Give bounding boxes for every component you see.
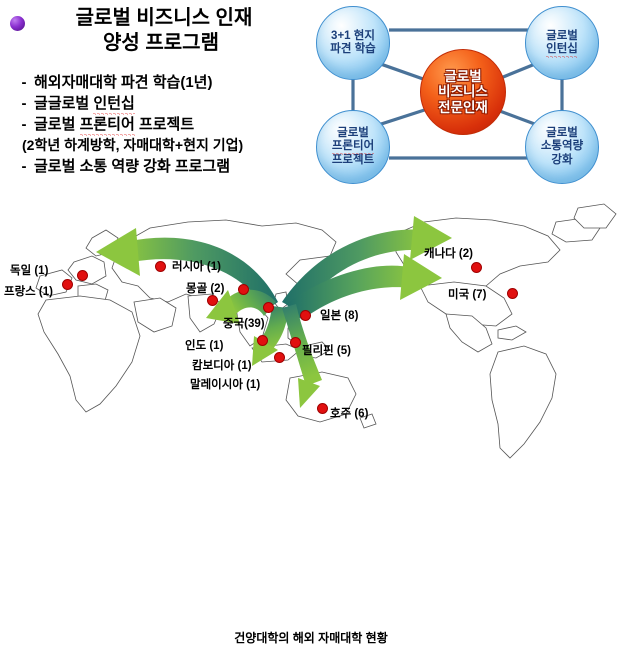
node-line: 강화: [541, 154, 583, 168]
list-item: - 글로벌 프론티어 프로젝트: [14, 114, 314, 135]
page-title-line-2: 양성 프로그램: [0, 31, 310, 56]
list-item-label: 글글로벌 인턴십: [34, 93, 135, 114]
world-map: 독일 (1) 프랑스 (1) 러시아 (1) 몽골 (2) 중국(39) 일본 …: [0, 190, 622, 471]
country-label-mongolia: 몽골 (2): [186, 280, 224, 296]
node-line: 인턴십: [546, 43, 578, 57]
country-marker-germany: [77, 270, 88, 281]
bullet-dash: -: [14, 114, 34, 135]
country-marker-russia: [155, 261, 166, 272]
title-block: 글로벌 비즈니스 인재 양성 프로그램: [0, 6, 310, 56]
node-line: 3+1 현지: [330, 30, 376, 44]
map-graphic: [0, 190, 622, 471]
program-bullet-list: - 해외자매대학 파견 학습(1년) - 글글로벌 인턴십 - 글로벌 프론티어…: [14, 72, 314, 177]
bullet-dash: -: [14, 156, 34, 177]
node-local-dispatch[interactable]: 3+1 현지 파견 학습: [316, 6, 390, 80]
bullet-dash: -: [14, 72, 34, 93]
country-marker-china: [263, 302, 274, 313]
country-marker-mongolia: [238, 284, 249, 295]
spellcheck-underline: 인턴십: [93, 93, 134, 114]
country-label-russia: 러시아 (1): [172, 258, 221, 274]
list-item: - 해외자매대학 파견 학습(1년): [14, 72, 314, 93]
node-line: 글로벌: [546, 30, 578, 44]
competency-network-diagram: 3+1 현지 파견 학습 글로벌 인턴십 글로벌 프론티어 프로젝트 글로벌 소…: [303, 0, 622, 190]
node-line: 파견 학습: [330, 43, 376, 57]
country-label-japan: 일본 (8): [320, 307, 358, 323]
country-marker-japan: [300, 310, 311, 321]
node-communication-capacity[interactable]: 글로벌 소통역량 강화: [525, 110, 599, 184]
list-item-subnote: (2학년 하계방학, 자매대학+현지 기업): [14, 135, 314, 156]
bullet-dash: -: [14, 93, 34, 114]
country-label-malaysia: 말레이시아 (1): [190, 376, 260, 392]
country-marker-cambodia: [257, 335, 268, 346]
node-line: 소통역량: [541, 140, 583, 154]
country-label-india: 인도 (1): [185, 337, 223, 353]
node-line: 글로벌: [541, 127, 583, 141]
country-label-usa: 미국 (7): [448, 286, 486, 302]
spellcheck-underline: 프론티어: [80, 114, 135, 135]
country-label-philippines: 필리핀 (5): [302, 342, 351, 358]
country-label-china: 중국(39): [223, 315, 265, 331]
map-caption: 건양대학의 해외 자매대학 현황: [0, 629, 622, 646]
list-item-label: 글로벌 소통 역량 강화 프로그램: [34, 156, 230, 177]
node-line: 글로벌: [332, 127, 374, 141]
country-label-australia: 호주 (6): [330, 405, 368, 421]
country-label-canada: 캐나다 (2): [424, 245, 473, 261]
node-global-internship[interactable]: 글로벌 인턴십: [525, 6, 599, 80]
node-global-frontier-project[interactable]: 글로벌 프론티어 프로젝트: [316, 110, 390, 184]
center-line: 전문인재: [438, 100, 488, 116]
list-item: - 글글로벌 인턴십: [14, 93, 314, 114]
country-marker-india: [207, 295, 218, 306]
list-item-label: 글로벌 프론티어 프로젝트: [34, 114, 194, 135]
country-label-france: 프랑스 (1): [4, 283, 53, 299]
center-line: 글로벌: [438, 69, 488, 85]
node-line: 프로젝트: [332, 154, 374, 168]
slide-canvas: 글로벌 비즈니스 인재 양성 프로그램 - 해외자매대학 파견 학습(1년) -…: [0, 0, 622, 471]
country-marker-australia: [317, 403, 328, 414]
purple-bullet-icon: [10, 16, 25, 31]
country-marker-canada: [471, 262, 482, 273]
page-title-line-1: 글로벌 비즈니스 인재: [0, 6, 310, 31]
list-item: - 글로벌 소통 역량 강화 프로그램: [14, 156, 314, 177]
country-marker-philippines: [290, 337, 301, 348]
center-line: 비즈니스: [438, 84, 488, 100]
list-item-label: 해외자매대학 파견 학습(1년): [34, 72, 212, 93]
country-marker-usa: [507, 288, 518, 299]
node-center-global-business-talent[interactable]: 글로벌 비즈니스 전문인재: [420, 49, 506, 135]
country-marker-france: [62, 279, 73, 290]
country-label-germany: 독일 (1): [10, 262, 48, 278]
country-label-cambodia: 캄보디아 (1): [192, 357, 252, 373]
country-marker-malaysia: [274, 352, 285, 363]
node-line: 프론티어: [332, 140, 374, 154]
